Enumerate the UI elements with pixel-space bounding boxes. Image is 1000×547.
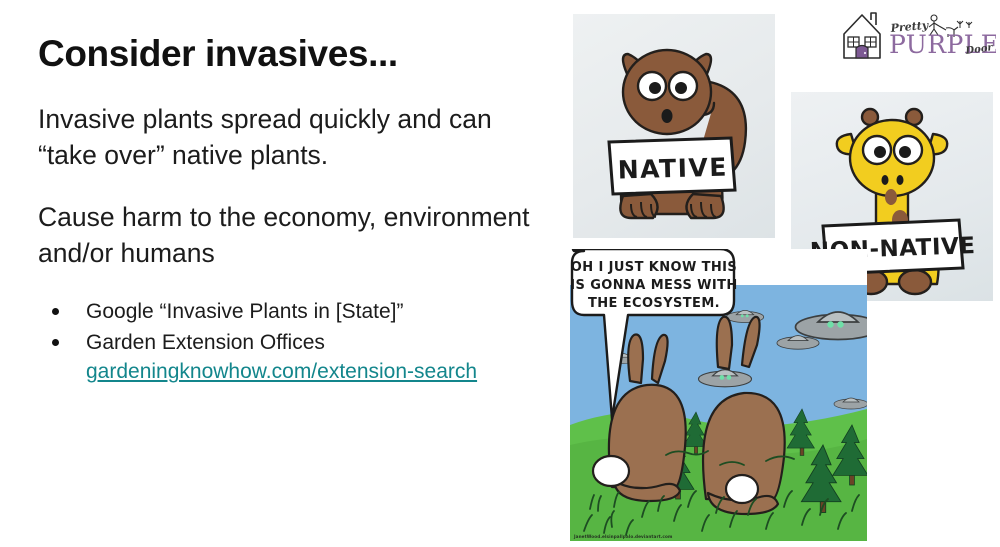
pretty-purple-door-logo: Pretty PURPLE Door bbox=[838, 6, 996, 68]
page-title: Consider invasives... bbox=[38, 34, 548, 75]
body-paragraph-1: Invasive plants spread quickly and can “… bbox=[38, 101, 548, 173]
extension-search-link[interactable]: gardeningknowhow.com/extension-search bbox=[86, 357, 477, 387]
resource-bullet-list: Google “Invasive Plants in [State]” Gard… bbox=[38, 297, 548, 387]
svg-text:NATIVE: NATIVE bbox=[617, 153, 728, 185]
artist-watermark: JanetWood.elsinpallpalo.deviantart.com bbox=[574, 534, 672, 539]
rabbits-ufo-cartoon-image: OH I JUST KNOW THIS IS GONNA MESS WITH T… bbox=[570, 249, 867, 541]
list-item-label: Garden Extension Offices bbox=[86, 331, 325, 354]
svg-text:OH I JUST KNOW THIS: OH I JUST KNOW THIS bbox=[571, 260, 737, 275]
slide-canvas: Consider invasives... Invasive plants sp… bbox=[0, 0, 1000, 547]
svg-text:THE ECOSYSTEM.: THE ECOSYSTEM. bbox=[588, 296, 720, 311]
bullet-dot-icon bbox=[52, 308, 59, 315]
squirrel-native-image: NATIVE bbox=[573, 14, 775, 238]
native-sign: NATIVE bbox=[609, 138, 735, 194]
slide-text-column: Consider invasives... Invasive plants sp… bbox=[38, 34, 548, 388]
list-item: Garden Extension Offices gardeningknowho… bbox=[38, 328, 548, 388]
body-paragraph-2: Cause harm to the economy, environment a… bbox=[38, 199, 548, 271]
list-item-label: Google “Invasive Plants in [State]” bbox=[86, 300, 404, 323]
list-item: Google “Invasive Plants in [State]” bbox=[38, 297, 548, 327]
bullet-dot-icon bbox=[52, 339, 59, 346]
purple-door-icon bbox=[856, 46, 868, 59]
svg-text:IS GONNA MESS WITH: IS GONNA MESS WITH bbox=[570, 278, 737, 293]
